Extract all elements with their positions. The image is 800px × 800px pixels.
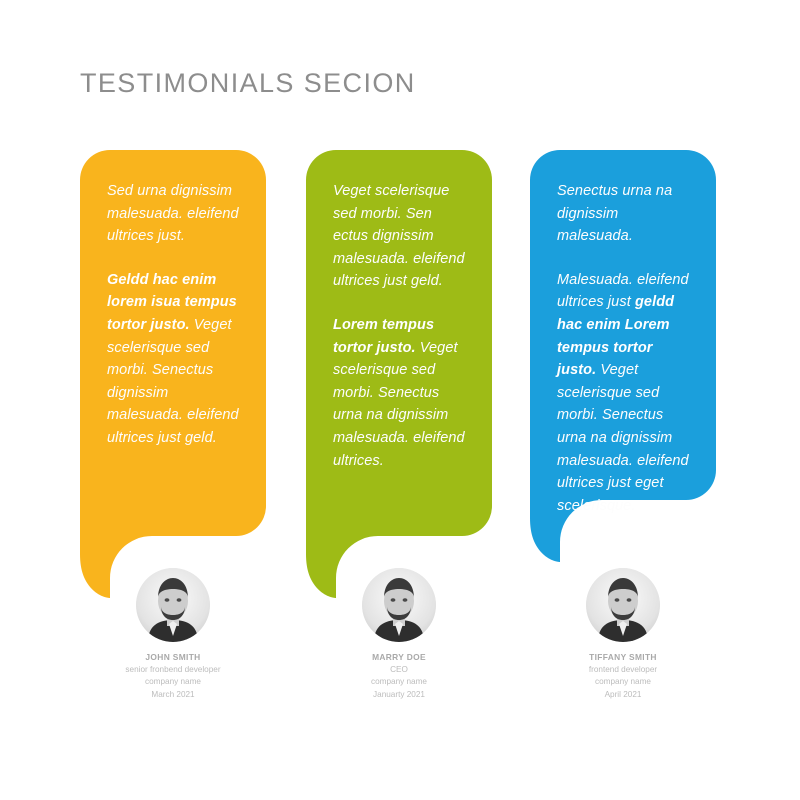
author-role: senior fronbend developer bbox=[80, 664, 266, 677]
author-name: TIFFANY SMITH bbox=[530, 651, 716, 664]
avatar bbox=[586, 568, 660, 642]
testimonial-quote-rest: Veget scelerisque sed morbi. Senectus di… bbox=[107, 317, 239, 446]
testimonial-text: Veget scelerisque sed morbi. Sen ectus d… bbox=[306, 150, 492, 482]
testimonial-intro: Veget scelerisque sed morbi. Sen ectus d… bbox=[333, 180, 468, 293]
author-meta: JOHN SMITH senior fronbend developer com… bbox=[80, 651, 266, 701]
author-name: MARRY DOE bbox=[306, 651, 492, 664]
author-meta: TIFFANY SMITH frontend developer company… bbox=[530, 651, 716, 701]
testimonial-text: Senectus urna na dignissim malesuada. Ma… bbox=[530, 150, 716, 527]
author-company: company name bbox=[530, 676, 716, 689]
testimonial-intro: Sed urna dignissim malesuada. eleifend u… bbox=[107, 180, 242, 248]
testimonial-quote-rest: Veget scelerisque sed morbi. Senectus ur… bbox=[557, 362, 689, 514]
testimonial-cards-row: Sed urna dignissim malesuada. eleifend u… bbox=[80, 150, 720, 750]
testimonial-quote: Geldd hac enim lorem isua tempus tortor … bbox=[107, 269, 242, 450]
author-role: CEO bbox=[306, 664, 492, 677]
testimonial-author: TIFFANY SMITH frontend developer company… bbox=[530, 568, 716, 701]
avatar-photo-man-icon bbox=[362, 568, 436, 642]
testimonial-text: Sed urna dignissim malesuada. eleifend u… bbox=[80, 150, 266, 460]
avatar bbox=[136, 568, 210, 642]
avatar-photo-man-icon bbox=[586, 568, 660, 642]
author-role: frontend developer bbox=[530, 664, 716, 677]
author-date: April 2021 bbox=[530, 689, 716, 702]
testimonial-author: MARRY DOE CEO company name Januarty 2021 bbox=[306, 568, 492, 701]
testimonial-quote: Lorem tempus tortor justo. Veget sceleri… bbox=[333, 314, 468, 472]
author-date: March 2021 bbox=[80, 689, 266, 702]
page-title: TESTIMONIALS SECION bbox=[80, 68, 416, 99]
testimonials-page: TESTIMONIALS SECION Sed urna dignissim m… bbox=[0, 0, 800, 800]
testimonial-quote: Malesuada. eleifend ultrices just geldd … bbox=[557, 269, 692, 518]
author-company: company name bbox=[80, 676, 266, 689]
author-meta: MARRY DOE CEO company name Januarty 2021 bbox=[306, 651, 492, 701]
author-date: Januarty 2021 bbox=[306, 689, 492, 702]
testimonial-author: JOHN SMITH senior fronbend developer com… bbox=[80, 568, 266, 701]
author-company: company name bbox=[306, 676, 492, 689]
testimonial-intro: Senectus urna na dignissim malesuada. bbox=[557, 180, 692, 248]
avatar bbox=[362, 568, 436, 642]
avatar-photo-man-icon bbox=[136, 568, 210, 642]
author-name: JOHN SMITH bbox=[80, 651, 266, 664]
testimonial-quote-rest: Veget scelerisque sed morbi. Senectus ur… bbox=[333, 340, 465, 469]
